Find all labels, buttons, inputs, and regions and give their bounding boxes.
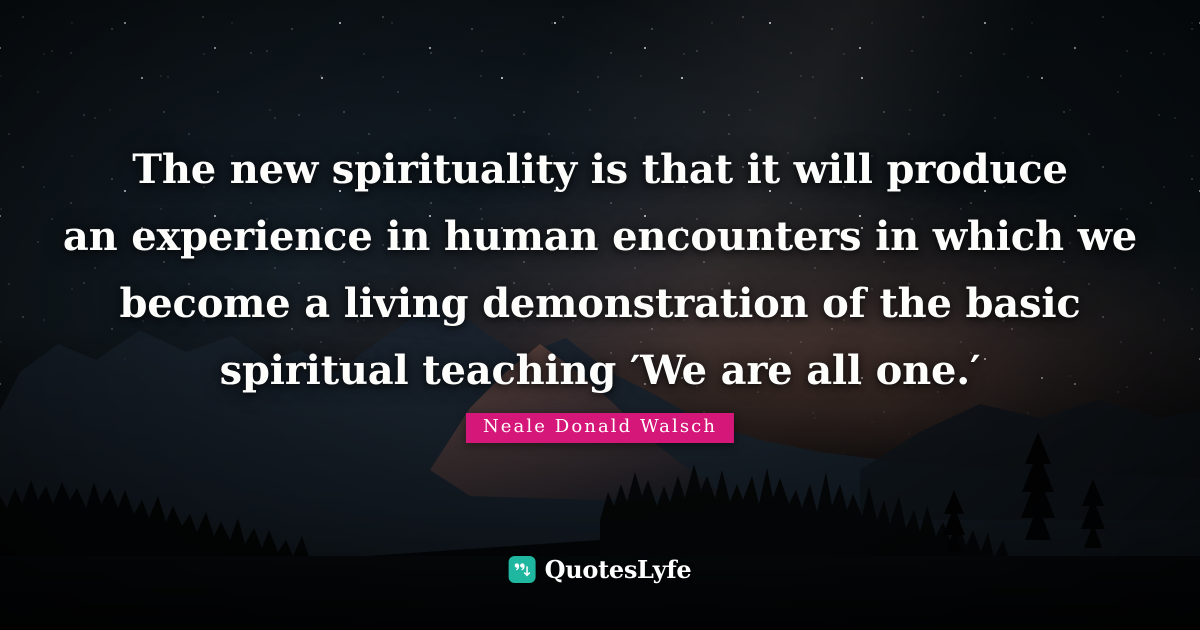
brand-name: QuotesLyfe bbox=[545, 556, 692, 583]
card-content: The new spirituality is that it will pro… bbox=[0, 0, 1200, 630]
quote-line: spiritual teaching ′We are all one.′ bbox=[60, 337, 1140, 404]
quote-line: become a living demonstration of the bas… bbox=[60, 270, 1140, 337]
brand-logo[interactable]: QuotesLyfe bbox=[509, 556, 692, 583]
author-name: Neale Donald Walsch bbox=[483, 416, 717, 437]
quote-text: The new spirituality is that it will pro… bbox=[0, 136, 1200, 404]
quote-line: an experience in human encounters in whi… bbox=[60, 203, 1140, 270]
quotation-mark-icon bbox=[509, 556, 536, 583]
author-badge[interactable]: Neale Donald Walsch bbox=[466, 413, 734, 443]
quote-line: The new spirituality is that it will pro… bbox=[60, 136, 1140, 203]
quote-card: The new spirituality is that it will pro… bbox=[0, 0, 1200, 630]
